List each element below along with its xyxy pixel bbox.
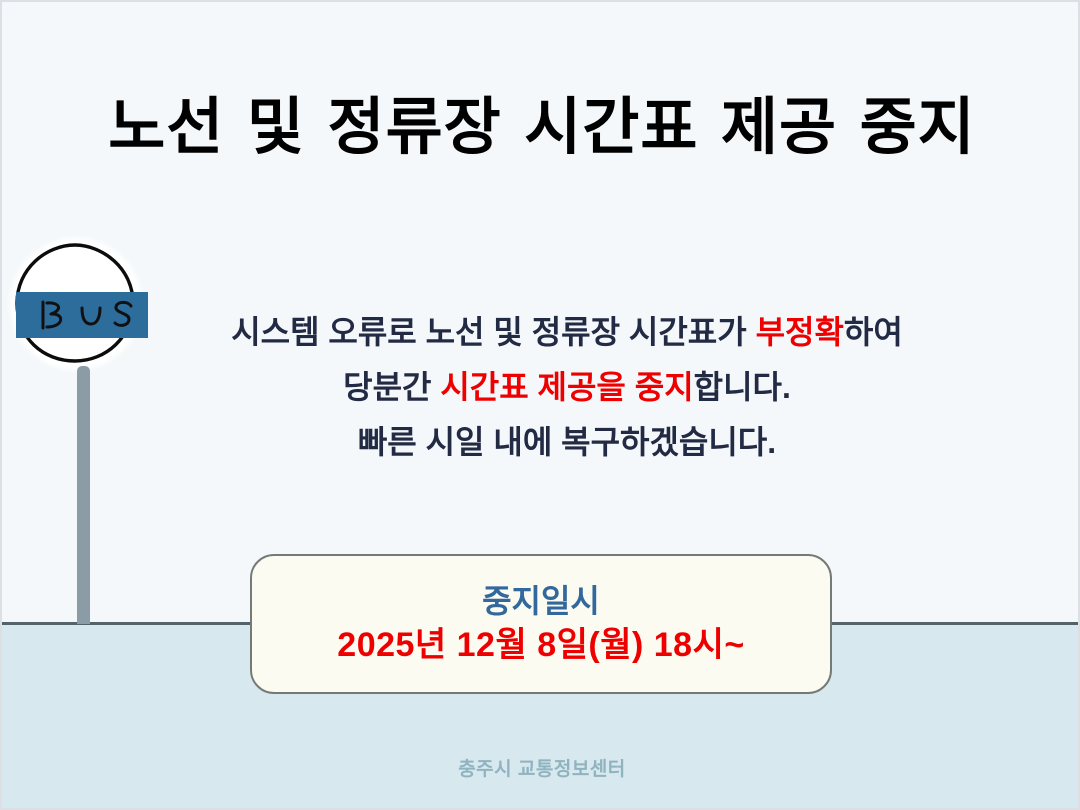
bus-sign-label [16,292,148,338]
notice-body-line-3: 빠른 시일 내에 복구하겠습니다. [152,415,982,470]
body-line2-part1: 당분간 [343,369,440,405]
suspension-info-box: 중지일시 2025년 12월 8일(월) 18시~ [250,554,832,694]
body-line2-part2: 합니다. [694,369,791,405]
body-line1-part1: 시스템 오류로 노선 및 정류장 시간표가 [231,314,755,350]
body-line1-highlight: 부정확 [756,314,844,350]
body-line1-part2: 하여 [844,314,903,350]
notice-body-line-2: 당분간 시간표 제공을 중지합니다. [152,360,982,415]
footer-credit: 충주시 교통정보센터 [2,754,1080,781]
body-line3-text: 빠른 시일 내에 복구하겠습니다. [358,424,776,460]
bus-stop-pole-icon [77,366,90,624]
page-title: 노선 및 정류장 시간표 제공 중지 [2,90,1080,163]
bus-stop-illustration [2,230,172,630]
bus-handwritten-text-icon [38,298,138,332]
body-line2-highlight: 시간표 제공을 중지 [440,369,693,405]
suspension-datetime: 2025년 12월 8일(월) 18시~ [337,625,744,666]
suspension-label: 중지일시 [482,582,600,620]
notice-canvas: 노선 및 정류장 시간표 제공 중지 시스템 오류로 노선 및 정류장 시간표가… [0,0,1080,810]
notice-body-text: 시스템 오류로 노선 및 정류장 시간표가 부정확하여 당분간 시간표 제공을 … [152,305,982,470]
notice-body-line-1: 시스템 오류로 노선 및 정류장 시간표가 부정확하여 [152,305,982,360]
